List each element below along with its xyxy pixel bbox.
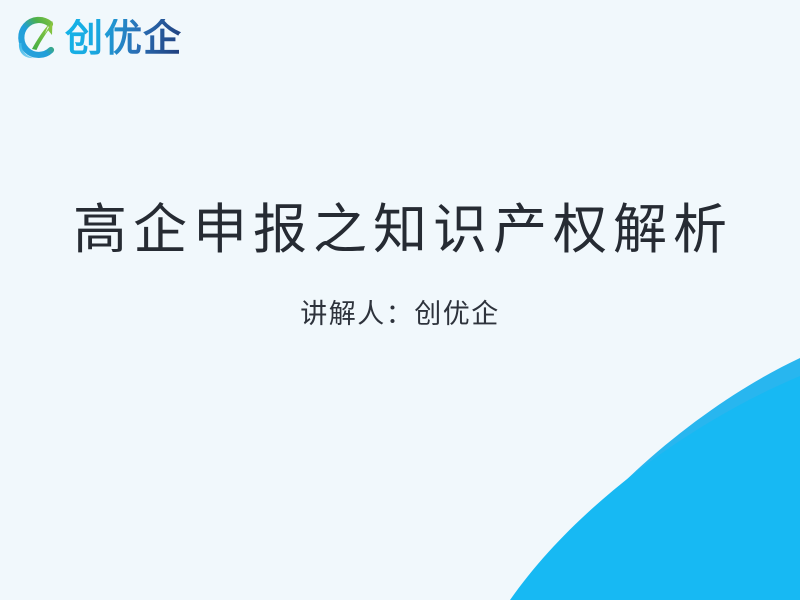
presentation-slide: 创优企 高企申报之知识产权解析 讲解人：创优企 (0, 0, 800, 600)
swoosh-arrow-logo-icon (10, 12, 62, 64)
bottom-right-blue-wave-decoration (380, 340, 800, 600)
title-block: 高企申报之知识产权解析 讲解人：创优企 (0, 200, 800, 332)
presenter-subtitle: 讲解人：创优企 (0, 299, 800, 331)
page-title: 高企申报之知识产权解析 (0, 200, 800, 260)
brand-logo: 创优企 (10, 9, 182, 67)
brand-wordmark: 创优企 (65, 19, 182, 57)
